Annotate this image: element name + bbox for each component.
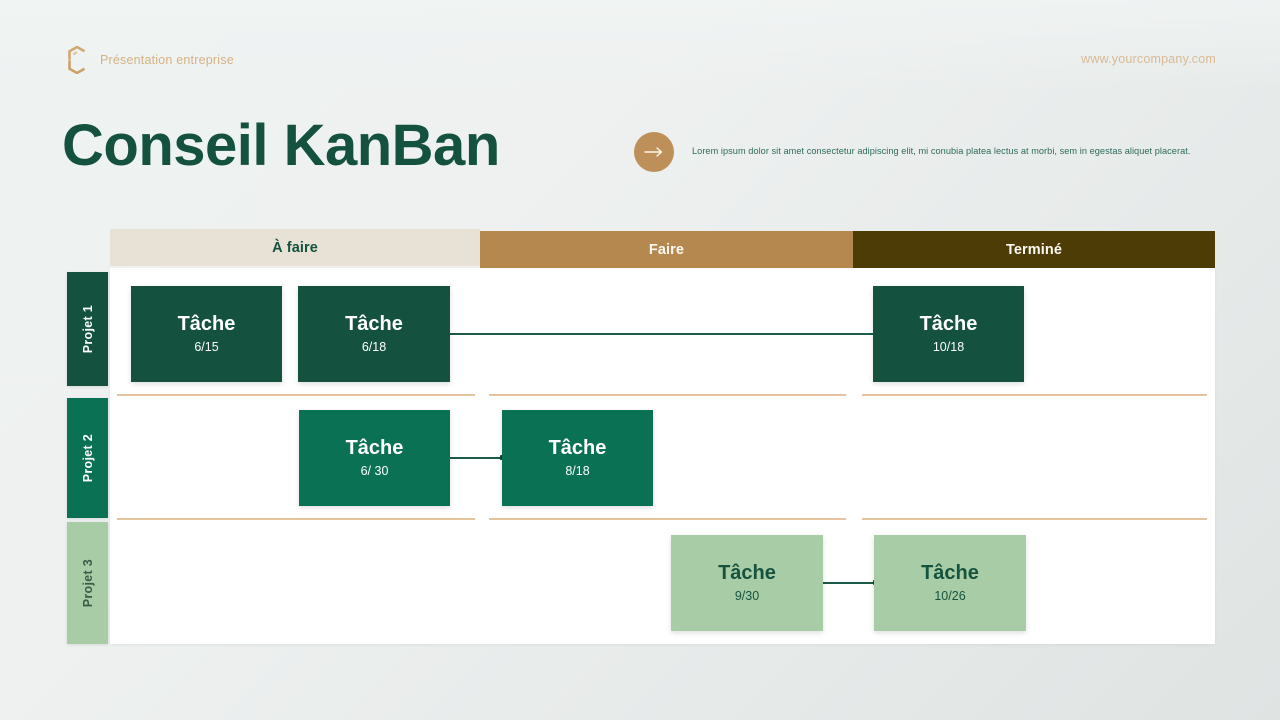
task-date: 10/18 <box>933 341 964 355</box>
row-divider-2-todo <box>117 518 475 520</box>
row-divider-2-doing <box>489 518 846 520</box>
kanban-board: À faire Faire Terminé Projet 1 Projet 2 … <box>0 0 1280 720</box>
task-date: 6/18 <box>362 341 386 355</box>
task-date: 6/15 <box>194 341 218 355</box>
task-card-c1[interactable]: Tâche 6/15 <box>131 286 282 382</box>
task-title: Tâche <box>921 562 979 585</box>
task-title: Tâche <box>718 562 776 585</box>
task-date: 6/ 30 <box>361 465 389 479</box>
column-header-doing[interactable]: Faire <box>480 231 853 268</box>
task-card-c6[interactable]: Tâche 9/30 <box>671 535 823 631</box>
task-card-c7[interactable]: Tâche 10/26 <box>874 535 1026 631</box>
row-divider-2-done <box>862 518 1207 520</box>
task-date: 9/30 <box>735 590 759 604</box>
connector-c4-c5 <box>449 457 505 459</box>
row-divider-1-doing <box>489 394 846 396</box>
row-label-text: Projet 2 <box>81 434 95 482</box>
task-title: Tâche <box>178 313 236 336</box>
column-header-todo[interactable]: À faire <box>110 229 480 266</box>
task-date: 8/18 <box>565 465 589 479</box>
row-divider-1-todo <box>117 394 475 396</box>
connector-c2-c3 <box>449 333 884 335</box>
row-divider-1-done <box>862 394 1207 396</box>
task-card-c4[interactable]: Tâche 6/ 30 <box>299 410 450 506</box>
task-title: Tâche <box>346 437 404 460</box>
row-label-projet-2[interactable]: Projet 2 <box>67 398 108 518</box>
row-label-text: Projet 1 <box>81 305 95 353</box>
task-card-c5[interactable]: Tâche 8/18 <box>502 410 653 506</box>
task-title: Tâche <box>920 313 978 336</box>
connector-c6-c7 <box>822 582 878 584</box>
task-date: 10/26 <box>934 590 965 604</box>
row-label-text: Projet 3 <box>81 559 95 607</box>
task-card-c2[interactable]: Tâche 6/18 <box>298 286 450 382</box>
task-title: Tâche <box>549 437 607 460</box>
task-title: Tâche <box>345 313 403 336</box>
column-header-done[interactable]: Terminé <box>853 231 1215 268</box>
task-card-c3[interactable]: Tâche 10/18 <box>873 286 1024 382</box>
row-label-projet-3[interactable]: Projet 3 <box>67 522 108 644</box>
row-label-projet-1[interactable]: Projet 1 <box>67 272 108 386</box>
